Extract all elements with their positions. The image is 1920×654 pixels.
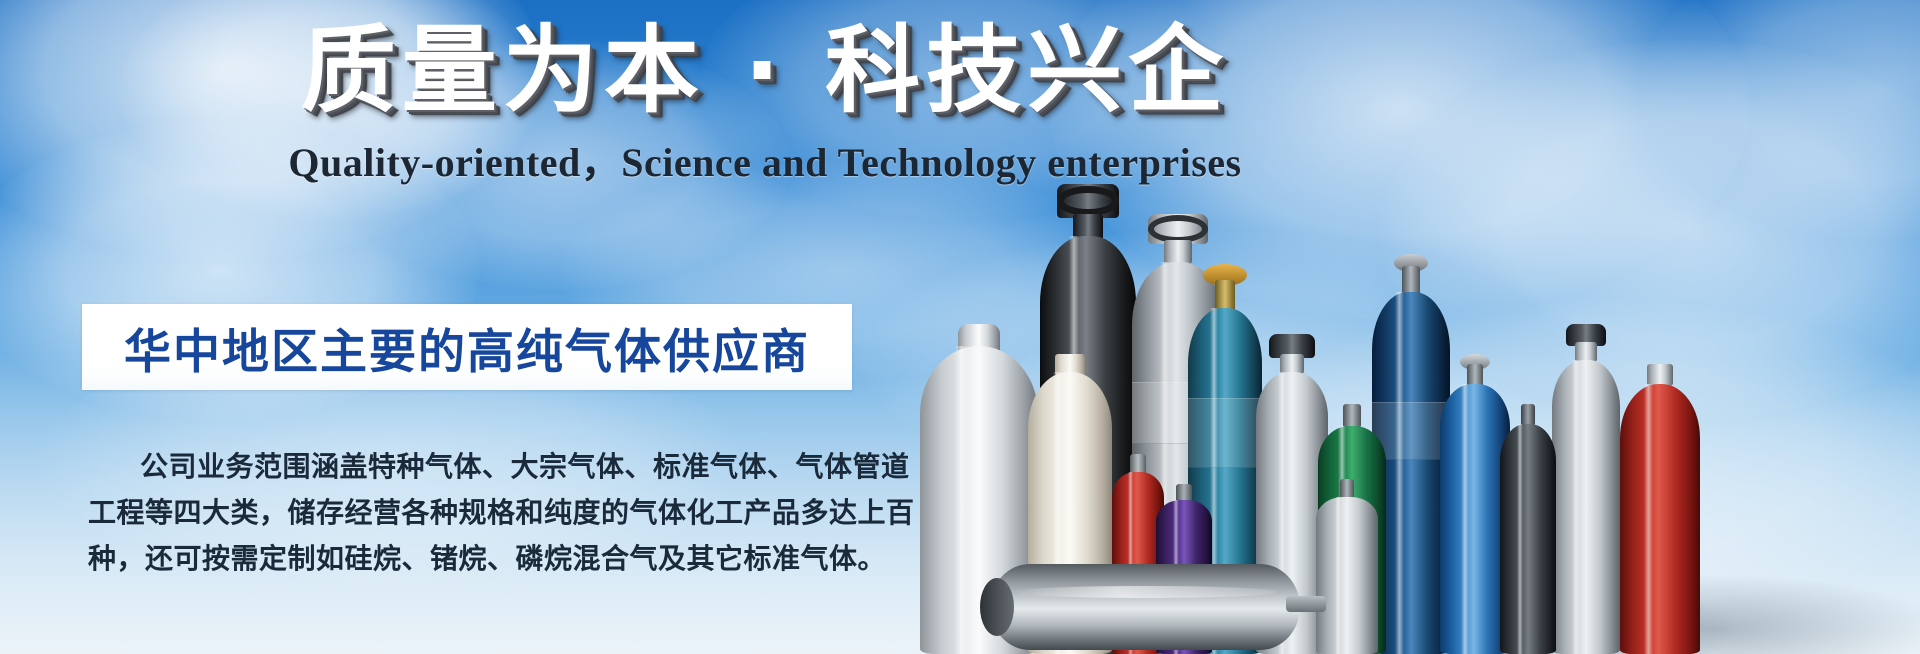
metal-sheen [955, 346, 968, 654]
metal-sheen [1644, 384, 1653, 654]
valve-handle-icon [1057, 186, 1119, 216]
paragraph-line: 种，还可按需定制如硅烷、锗烷、磷烷混合气及其它标准气体。 [88, 536, 868, 582]
cylinder-valve [1340, 479, 1354, 499]
paragraph-line: 公司业务范围涵盖特种气体、大宗气体、标准气体、气体管道 [88, 444, 868, 490]
cylinder-label-band [1188, 398, 1262, 468]
dark-slim-cylinder [1500, 404, 1556, 654]
horizontal-cylinder [990, 564, 1300, 650]
cylinder-valve [1343, 404, 1361, 428]
cylinder-neck [1280, 354, 1304, 374]
silver-small-front-cylinder [1316, 479, 1378, 654]
metal-sheen [1461, 384, 1469, 654]
promo-banner: 质量为本 · 科技兴企 Quality-oriented，Science and… [0, 0, 1920, 654]
paragraph-line: 工程等四大类，储存经营各种规格和纯度的气体化工产品多达上百 [88, 490, 868, 536]
cylinder-valve [1521, 404, 1535, 426]
silver-tall-right-cylinder [1552, 324, 1620, 654]
metal-sheen [1335, 497, 1342, 654]
metal-sheen [1572, 360, 1579, 654]
cylinder-valve [1286, 596, 1326, 612]
cylinder-body [1552, 360, 1620, 654]
cylinder-neck [1647, 364, 1673, 386]
cylinder-end-cap [980, 578, 1014, 636]
metal-sheen [1015, 586, 1275, 597]
slogan-text: 华中地区主要的高纯气体供应商 [124, 313, 810, 382]
slogan-box: 华中地区主要的高纯气体供应商 [82, 304, 852, 390]
cylinder-neck [1164, 240, 1192, 264]
cylinder-neck [1575, 342, 1597, 362]
description-paragraph: 公司业务范围涵盖特种气体、大宗气体、标准气体、气体管道 工程等四大类，储存经营各… [88, 444, 868, 582]
metal-sheen [1395, 292, 1404, 654]
gas-cylinder-group [920, 0, 1920, 654]
red-large-cylinder [1620, 364, 1700, 654]
cylinder-body [1316, 497, 1378, 654]
cylinder-body [1500, 424, 1556, 654]
cylinder-body [1620, 384, 1700, 654]
metal-sheen [1517, 424, 1523, 654]
valve-handle-icon [1148, 215, 1208, 243]
